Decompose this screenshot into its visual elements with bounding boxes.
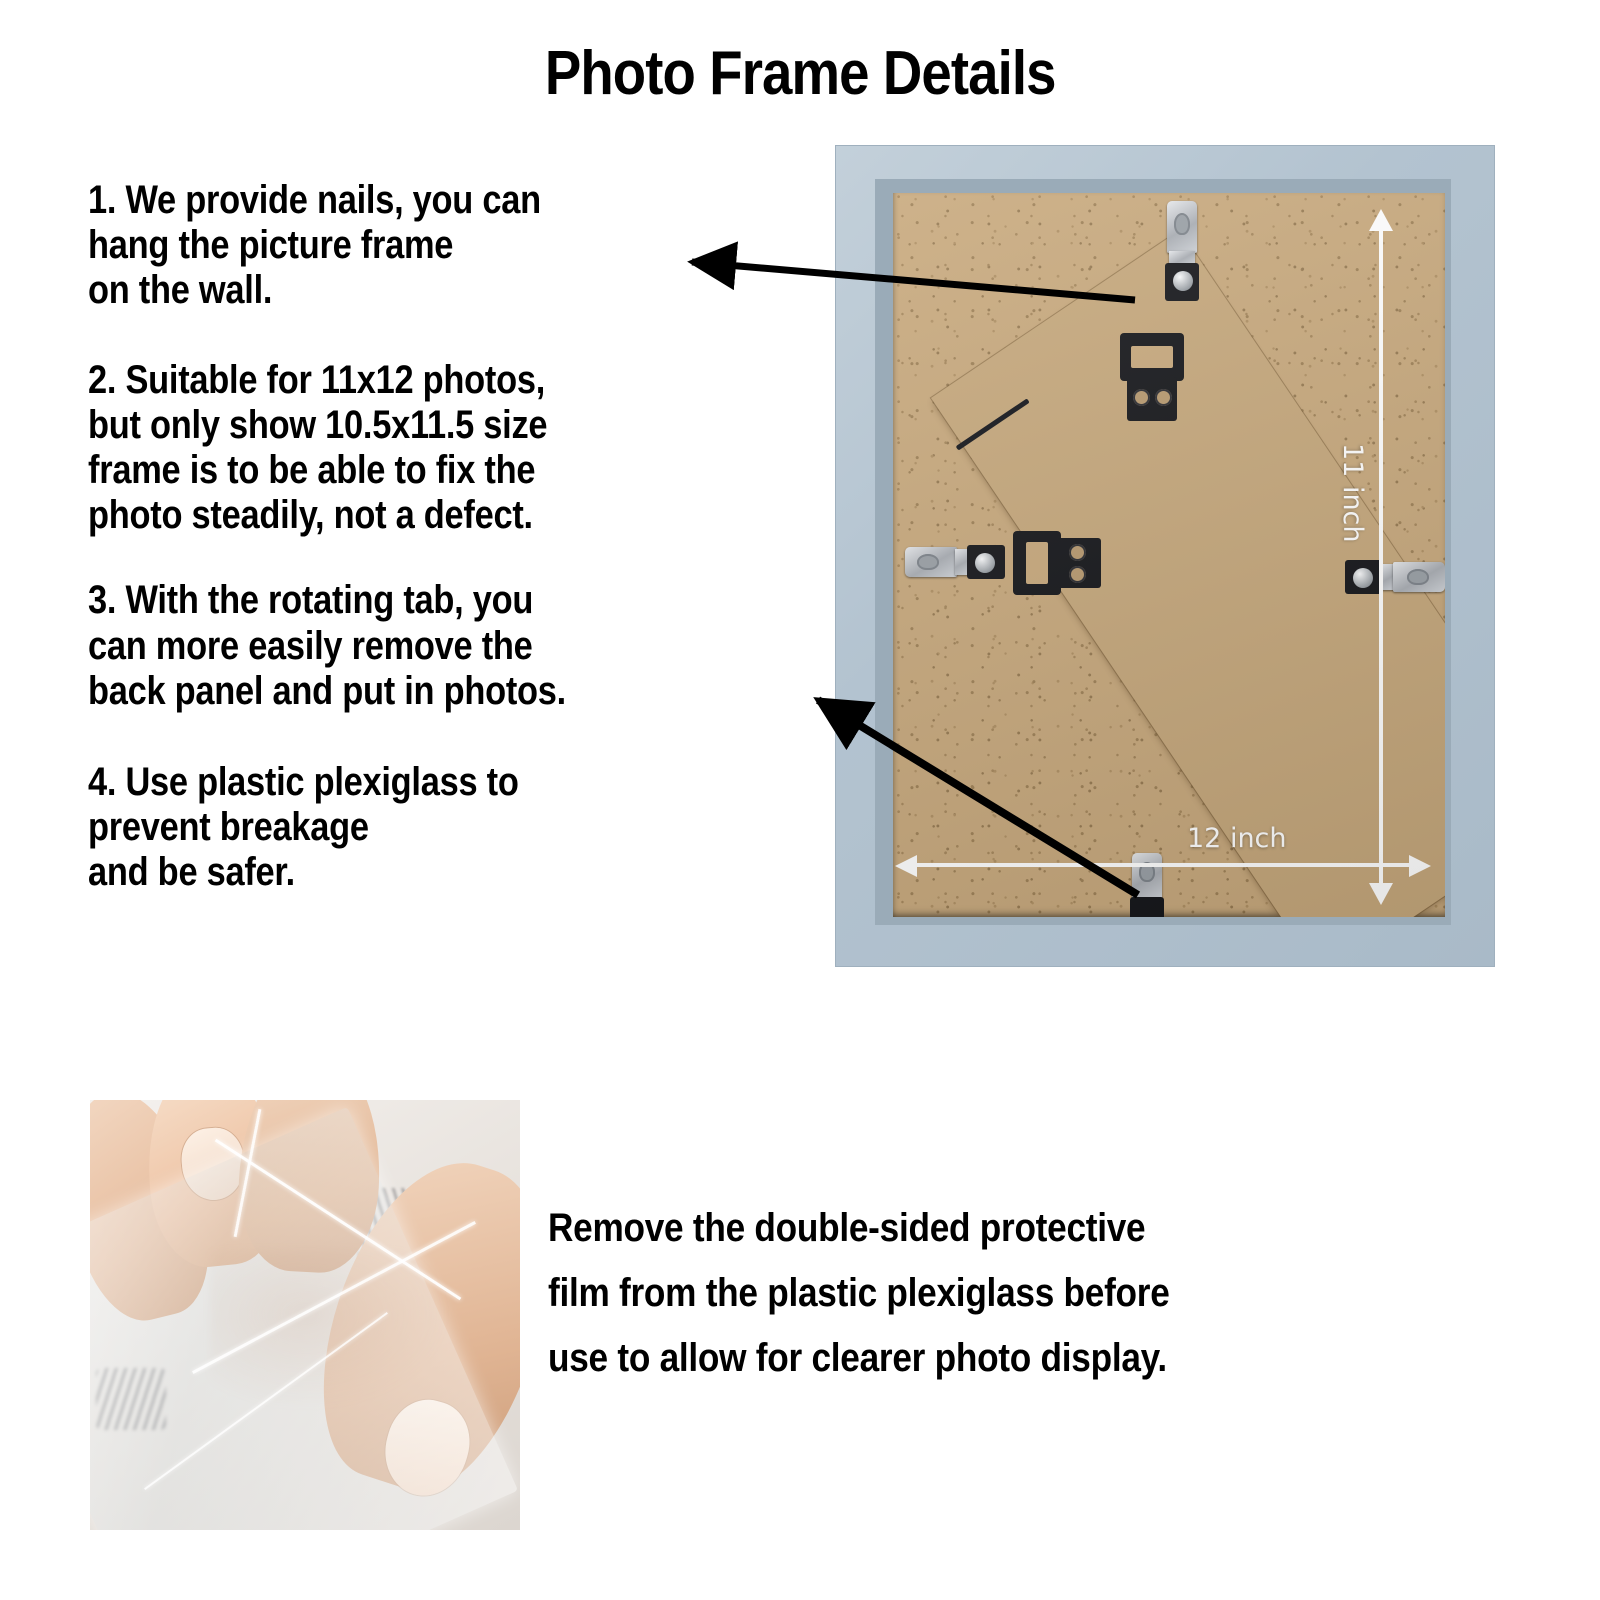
bracket-base bbox=[1127, 377, 1177, 421]
dimension-arrowhead-left bbox=[895, 855, 917, 877]
tab-plate bbox=[905, 547, 957, 577]
tab-plate bbox=[1132, 853, 1162, 899]
bracket-screw-hole bbox=[1069, 566, 1086, 583]
tab-rivet bbox=[975, 553, 995, 573]
tab-mount bbox=[1165, 263, 1199, 301]
instruction-item-4: 4. Use plastic plexiglass to prevent bre… bbox=[88, 760, 848, 896]
instruction-list: 1. We provide nails, you can hang the pi… bbox=[88, 178, 848, 929]
instruction-line: back panel and put in photos. bbox=[88, 669, 742, 714]
rotating-tab-right bbox=[1345, 560, 1445, 594]
bracket-screw-hole bbox=[1069, 544, 1086, 561]
easel-back-panel bbox=[931, 230, 1445, 917]
instruction-line: can more easily remove the bbox=[88, 624, 742, 669]
instruction-line: 4. Use plastic plexiglass to bbox=[88, 760, 742, 805]
instruction-item-3: 3. With the rotating tab, you can more e… bbox=[88, 578, 848, 714]
tab-neck bbox=[1169, 251, 1195, 265]
dimension-label-height: 11 inch bbox=[1337, 443, 1368, 543]
instruction-item-2: 2. Suitable for 11x12 photos, but only s… bbox=[88, 358, 848, 539]
page-title-text: Photo Frame Details bbox=[545, 38, 1056, 109]
dimension-line-horizontal bbox=[915, 863, 1409, 867]
tab-hole bbox=[1174, 213, 1190, 235]
rotating-tab-bottom bbox=[1130, 853, 1164, 917]
bottom-caption-line: film from the plastic plexiglass before bbox=[548, 1261, 1384, 1326]
instruction-line: hang the picture frame bbox=[88, 223, 742, 268]
instruction-line: but only show 10.5x11.5 size bbox=[88, 403, 742, 448]
hanging-bracket-top bbox=[1120, 333, 1184, 421]
easel-edge-strip bbox=[956, 398, 1030, 450]
bracket-screw-hole bbox=[1133, 389, 1150, 406]
tab-mount bbox=[1345, 560, 1383, 594]
protective-film-photo bbox=[90, 1100, 520, 1530]
instruction-item-1: 1. We provide nails, you can hang the pi… bbox=[88, 178, 848, 314]
bottom-caption-line: use to allow for clearer photo display. bbox=[548, 1326, 1384, 1391]
frame-backing-board: 11 inch 12 inch bbox=[893, 193, 1445, 917]
tab-rivet bbox=[1173, 271, 1193, 291]
tab-plate bbox=[1167, 201, 1197, 253]
rotating-tab-left bbox=[905, 545, 1005, 579]
film-sheet bbox=[90, 1107, 518, 1530]
tab-neck bbox=[1381, 564, 1395, 590]
instruction-line: photo steadily, not a defect. bbox=[88, 493, 742, 538]
tab-neck bbox=[955, 549, 969, 575]
bracket-slot bbox=[1026, 542, 1048, 584]
bracket-body bbox=[1013, 531, 1061, 595]
dimension-arrowhead-right bbox=[1409, 855, 1431, 877]
bracket-screw-hole bbox=[1155, 389, 1172, 406]
page-title: Photo Frame Details bbox=[0, 38, 1600, 109]
dimension-arrowhead-down bbox=[1369, 883, 1393, 905]
bracket-base bbox=[1057, 538, 1101, 588]
dimension-line-vertical bbox=[1379, 227, 1383, 901]
tab-hole bbox=[1139, 862, 1155, 882]
instruction-line: on the wall. bbox=[88, 268, 742, 313]
tab-plate bbox=[1393, 562, 1445, 592]
instruction-line: 1. We provide nails, you can bbox=[88, 178, 742, 223]
tab-mount bbox=[967, 545, 1005, 579]
instruction-line: 3. With the rotating tab, you bbox=[88, 578, 742, 623]
bottom-caption: Remove the double-sided protective film … bbox=[548, 1196, 1498, 1390]
bottom-caption-line: Remove the double-sided protective bbox=[548, 1196, 1384, 1261]
photo-frame-image: 11 inch 12 inch bbox=[835, 145, 1495, 967]
bracket-body bbox=[1120, 333, 1184, 381]
bracket-slot bbox=[1131, 346, 1173, 368]
instruction-line: frame is to be able to fix the bbox=[88, 448, 742, 493]
tab-hole bbox=[917, 554, 939, 570]
tab-rivet bbox=[1353, 568, 1373, 588]
tab-hole bbox=[1407, 569, 1429, 585]
instruction-line: prevent breakage bbox=[88, 805, 742, 850]
protective-film bbox=[90, 1100, 520, 1530]
tab-mount bbox=[1130, 897, 1164, 917]
dimension-label-width: 12 inch bbox=[1187, 823, 1287, 854]
hanging-bracket-middle bbox=[1013, 531, 1101, 595]
instruction-line: 2. Suitable for 11x12 photos, bbox=[88, 358, 742, 403]
rotating-tab-top bbox=[1165, 201, 1199, 301]
instruction-line: and be safer. bbox=[88, 850, 742, 895]
dimension-arrowhead-up bbox=[1369, 209, 1393, 231]
